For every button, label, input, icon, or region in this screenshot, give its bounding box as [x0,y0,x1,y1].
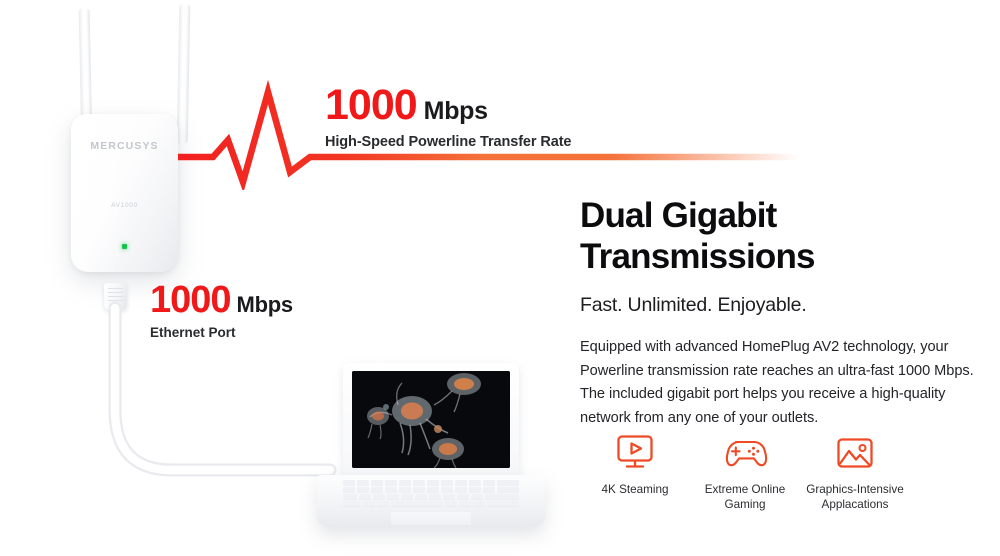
powerline-speed-unit: Mbps [424,97,488,126]
ethernet-callout: 1000 Mbps Ethernet Port [150,281,293,340]
ethernet-speed-value: 1000 [150,281,231,319]
description-paragraph: Equipped with advanced HomePlug AV2 tech… [580,336,980,431]
headline-line-2: Transmissions [580,237,980,278]
powerline-callout: 1000 Mbps High-Speed Powerline Transfer … [325,84,571,150]
laptop-keyboard [343,480,519,508]
feature-label: Graphics-Intensive Applacations [800,482,910,513]
laptop-screen [352,371,510,468]
headline-line-1: Dual Gigabit [580,196,980,237]
copy-block: Dual Gigabit Transmissions Fast. Unlimit… [580,196,980,430]
feature-list: 4K Steaming Extreme Online Gaming [580,430,910,513]
headline: Dual Gigabit Transmissions [580,196,980,278]
promo-banner: MERCUSYS AV1000 [0,0,1000,556]
tagline: Fast. Unlimited. Enjoyable. [580,294,980,317]
laptop-trackpad [391,512,471,525]
gamepad-icon [690,430,800,476]
feature-label: Extreme Online Gaming [690,482,800,513]
feature-item-online-gaming: Extreme Online Gaming [690,430,800,513]
feature-label: 4K Steaming [580,482,690,497]
jellyfish-wallpaper [352,371,510,468]
ethernet-caption: Ethernet Port [150,325,293,340]
image-mountain-icon [800,430,910,476]
laptop [311,363,551,541]
powerline-speed-value: 1000 [325,84,417,127]
powerline-caption: High-Speed Powerline Transfer Rate [325,134,571,150]
ethernet-speed-unit: Mbps [237,292,293,318]
monitor-play-icon [580,430,690,476]
feature-item-4k-streaming: 4K Steaming [580,430,690,513]
laptop-base [317,475,545,527]
laptop-lid [343,363,519,476]
feature-item-graphics-apps: Graphics-Intensive Applacations [800,430,910,513]
